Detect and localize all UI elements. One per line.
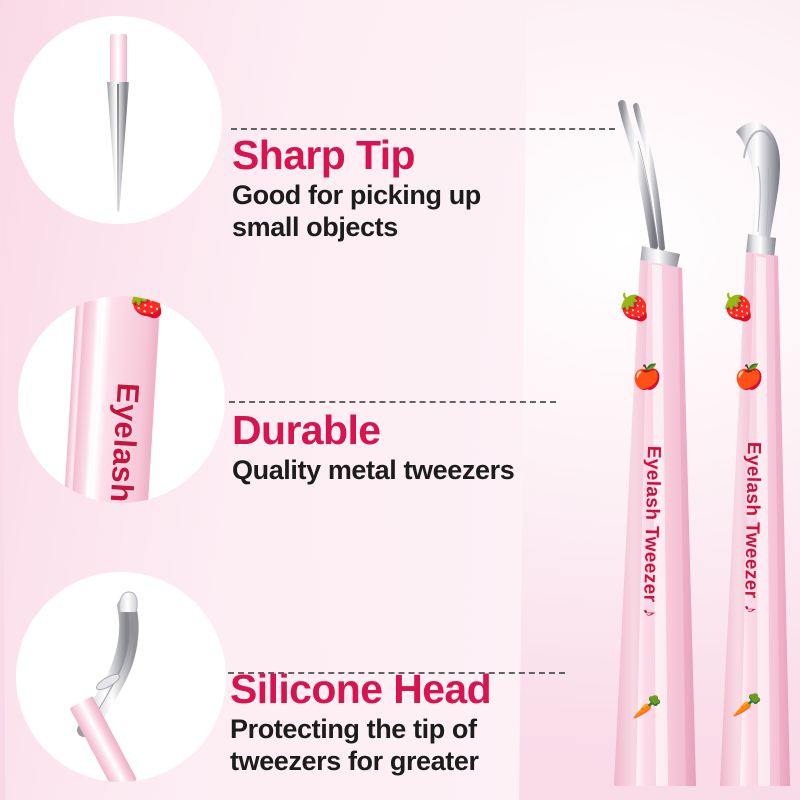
feature-block-sharp-tip: Sharp Tip Good for picking up small obje…: [232, 134, 562, 244]
feature-desc-line: Good for picking up: [232, 180, 481, 210]
apple-icon: 🍎: [632, 366, 662, 390]
apple-icon: 🍎: [734, 366, 764, 390]
feature-title-durable: Durable: [232, 409, 562, 452]
handle-label-text: Eyelash Tweezer: [740, 442, 764, 599]
handle-label-tweezer-2: Eyelash Tweezer ♪: [739, 442, 764, 615]
connector-line-durable: [229, 401, 556, 403]
silicone-head-photo: [16, 572, 226, 782]
tweezer-seam-line: [117, 84, 119, 210]
sharp-tip-photo: [14, 16, 222, 224]
feature-desc-line: tweezers for greater: [230, 746, 479, 776]
feature-photo-durable: 🍓 Eyelash Tweezer ♪: [18, 296, 225, 503]
strawberry-icon: 🍓: [722, 294, 754, 320]
product-tweezer-hooked-tip: 🍓 🍎 Eyelash Tweezer ♪ 🥕: [700, 112, 800, 800]
connector-line-sharp-tip: [231, 128, 615, 130]
feature-desc-line: small objects: [232, 212, 398, 242]
handle-label-text: Eyelash Tweezer: [639, 445, 664, 602]
feature-photo-sharp-tip: [14, 16, 222, 224]
handle-closeup-photo: 🍓 Eyelash Tweezer ♪: [18, 296, 225, 503]
feature-desc-durable: Quality metal tweezers: [232, 455, 562, 487]
feature-block-silicone-head: Silicone Head Protecting the tip of twee…: [230, 668, 580, 778]
strawberry-icon: 🍓: [128, 296, 165, 318]
product-infographic: 🍓 Eyelash Tweezer ♪: [0, 0, 800, 800]
feature-photo-silicone-head: [16, 572, 226, 782]
feature-desc-line: Quality metal tweezers: [232, 455, 514, 485]
music-note-icon: ♪: [639, 608, 660, 618]
feature-title-silicone-head: Silicone Head: [230, 668, 580, 711]
music-note-icon: ♪: [740, 604, 761, 614]
feature-title-sharp-tip: Sharp Tip: [232, 134, 562, 177]
feature-desc-silicone-head: Protecting the tip of tweezers for great…: [230, 714, 580, 778]
feature-desc-line: Protecting the tip of: [230, 714, 477, 744]
handle-label-tweezer-1: Eyelash Tweezer ♪: [638, 445, 664, 618]
feature-block-durable: Durable Quality metal tweezers: [232, 409, 562, 487]
strawberry-icon: 🍓: [618, 294, 650, 320]
feature-desc-sharp-tip: Good for picking up small objects: [232, 180, 562, 244]
carrot-icon: 🥕: [732, 694, 762, 718]
tweezer-shaft-pink: [110, 34, 127, 86]
carrot-icon: 🥕: [632, 696, 662, 720]
